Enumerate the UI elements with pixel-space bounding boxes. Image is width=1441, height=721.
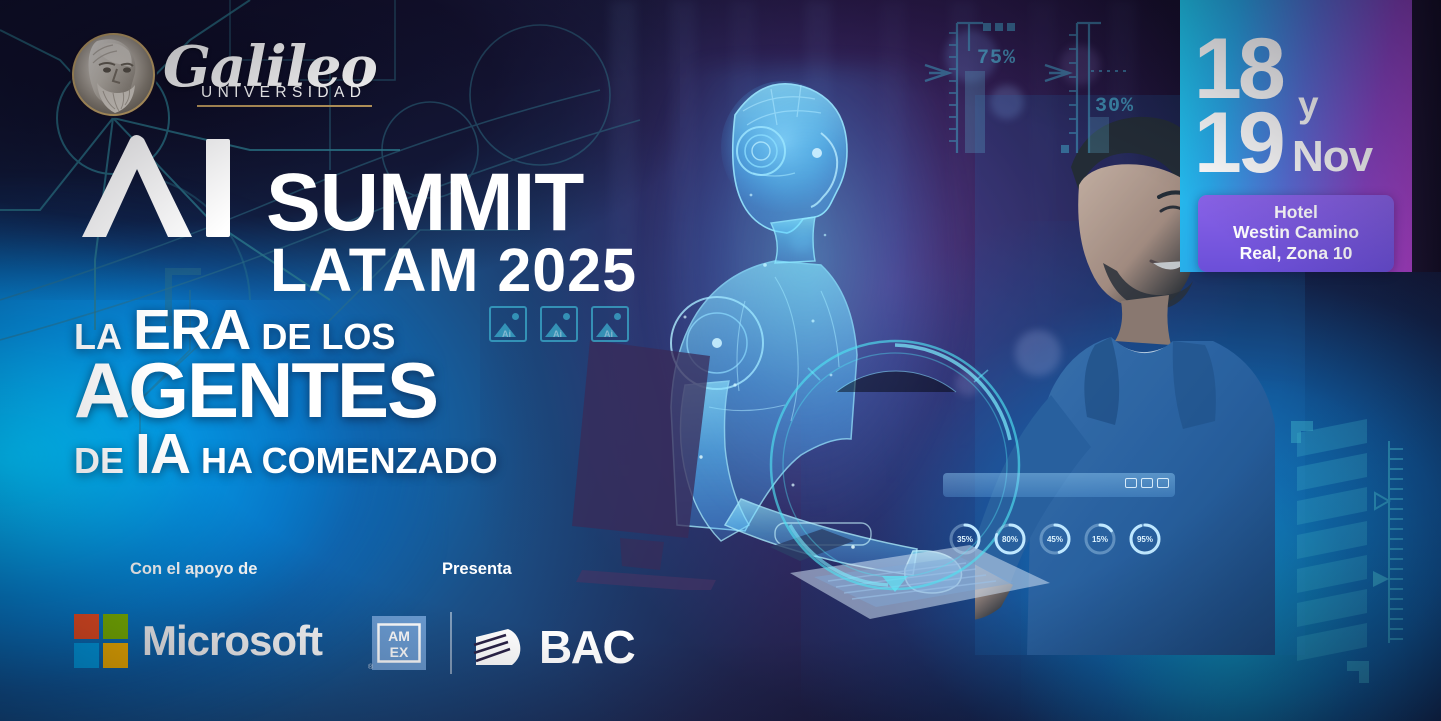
- vignette-overlay: [0, 0, 1441, 721]
- event-banner: 75% 30% Ai Ai Ai: [0, 0, 1441, 721]
